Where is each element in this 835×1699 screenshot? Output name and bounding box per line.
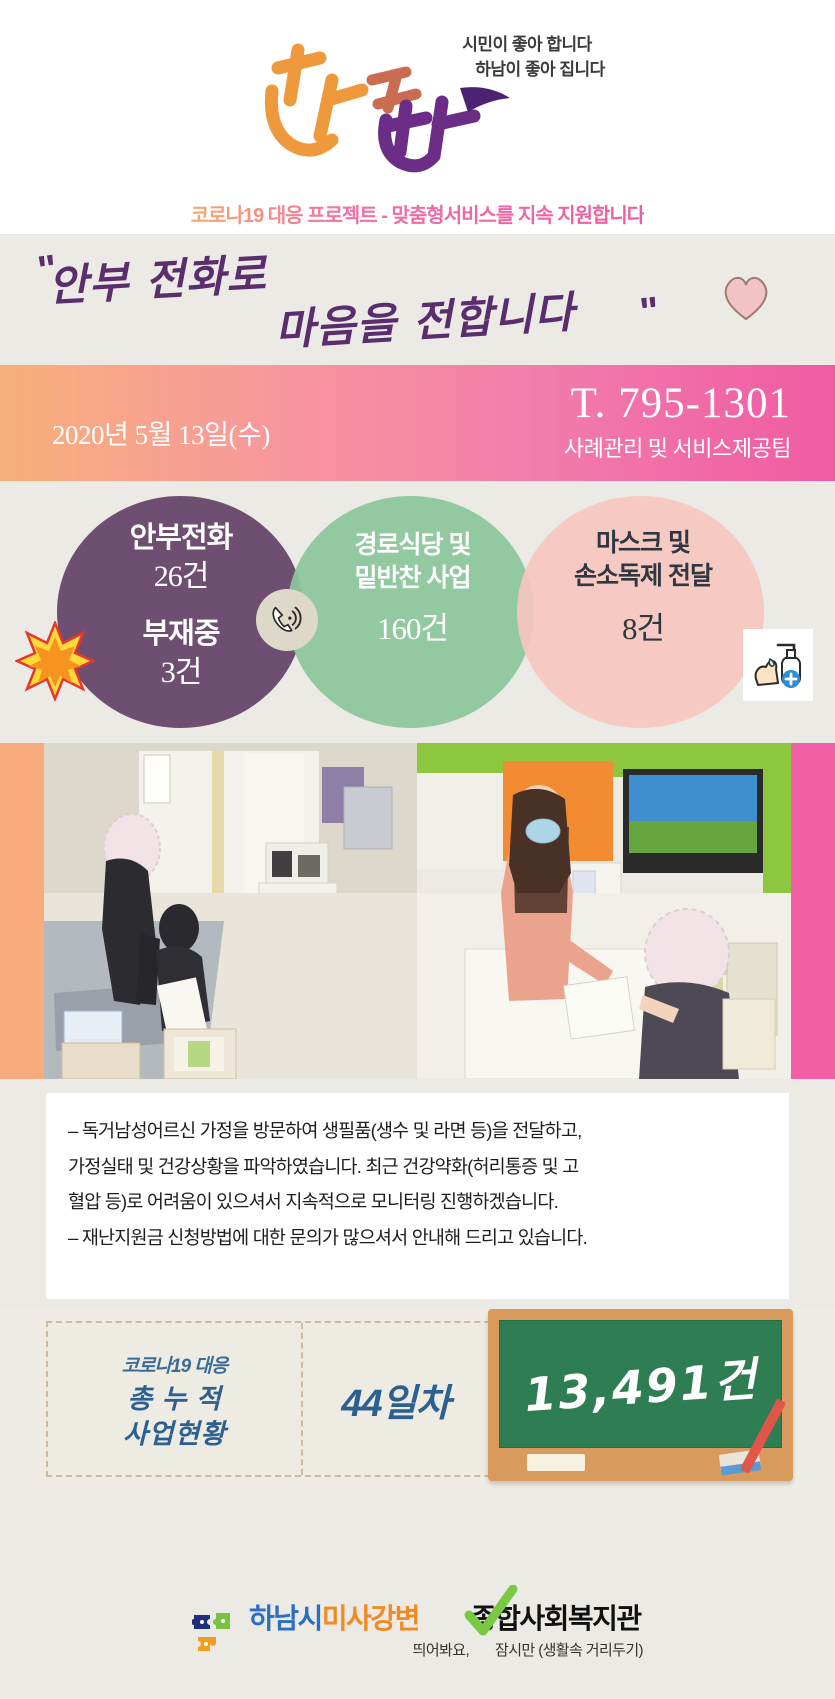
sanitizer-glyph: [748, 635, 808, 695]
photo-center-counsel: [417, 743, 791, 1079]
summary-days: 44일차: [341, 1372, 449, 1427]
poster-root: 시민이 좋아 합니다 하남이 좋아 집니다 코로나19 대응 프로젝트 - 맞춤…: [0, 0, 835, 1699]
summary-big-label-2: 사업현황: [123, 1417, 226, 1452]
contact-phone: T. 795-1301: [571, 379, 791, 428]
footer-inner: 하남시미사강변종합사회복지관 띄어봐요, 잠시만 (생활속 거리두기): [192, 1605, 643, 1661]
footer-sub-left: 띄어봐요,: [249, 1639, 477, 1660]
photo-edge-right: [791, 743, 835, 1079]
description-line-2: 가정실태 및 건강상황을 파악하였습니다. 최근 건강약화(허리통증 및 고: [68, 1149, 767, 1185]
phone-glyph: [268, 601, 306, 639]
team-name: 사례관리 및 서비스제공팀: [564, 431, 791, 463]
heart-icon: [719, 272, 773, 322]
project-bar: 코로나19 대응 프로젝트 - 맞춤형서비스를 지속 지원합니다: [0, 192, 835, 234]
venn-phone-sub-count: 3건: [62, 653, 300, 693]
info-bar: 2020년 5월 13일(수) T. 795-1301 사례관리 및 서비스제공…: [0, 365, 835, 481]
title-line-2: 마음을 전합니다: [273, 278, 576, 358]
footer-sub-right: 잠시만 (생활속 거리두기): [477, 1639, 643, 1660]
hand-sanitizer-icon: [743, 629, 813, 701]
photo-home-visit: [44, 743, 417, 1079]
organization-name: 하남시미사강변종합사회복지관: [249, 1605, 643, 1633]
summary-days-cell: 44일차: [303, 1323, 488, 1475]
summary-big-label-1: 총 누 적: [123, 1382, 226, 1417]
venn-meal-title-1: 경로식당 및: [300, 529, 525, 562]
chalk-tray: [499, 1448, 782, 1478]
photo-edge-left: [0, 743, 44, 1079]
venn-label-mask: 마스크 및 손소독제 전달 8건: [524, 527, 762, 650]
check-mark-icon: [463, 1585, 519, 1641]
venn-phone-count: 26건: [62, 557, 300, 597]
slogan-line-2: 하남이 좋아 집니다: [362, 58, 692, 83]
summary-total: 13,491건: [522, 1343, 760, 1425]
summary-small-label: 코로나19 대응: [122, 1351, 228, 1378]
venn-label-meal: 경로식당 및 밑반찬 사업 160건: [300, 529, 525, 650]
venn-mask-title-1: 마스크 및: [524, 527, 762, 560]
description-line-3: 혈압 등)로 어려움이 있으셔서 지속적으로 모니터링 진행하겠습니다.: [68, 1184, 767, 1220]
venn-meal-title-2: 밑반찬 사업: [300, 562, 525, 595]
star-burst-icon: [15, 621, 95, 701]
project-bar-text: 코로나19 대응 프로젝트 - 맞춤형서비스를 지속 지원합니다: [191, 199, 644, 228]
title-banner: " 안부 전화로 마음을 전합니다 ": [0, 234, 835, 365]
description-box: – 독거남성어르신 가정을 방문하여 생필품(생수 및 라면 등)을 전달하고,…: [46, 1093, 789, 1299]
org-name-city: 하남시: [249, 1603, 322, 1634]
chalkboard-surface: 13,491건: [499, 1320, 782, 1448]
slogan-line-1: 시민이 좋아 합니다: [362, 33, 692, 58]
venn-meal-count: 160건: [300, 609, 525, 650]
header: 시민이 좋아 합니다 하남이 좋아 집니다: [0, 0, 835, 192]
title-line-1: 안부 전화로: [46, 240, 268, 314]
summary-big-label: 총 누 적 사업현황: [123, 1382, 226, 1451]
quote-close-mark: ": [638, 289, 662, 336]
phone-ringing-icon: [256, 589, 318, 651]
org-name-district: 미사강변: [322, 1603, 419, 1634]
description-line-4: – 재난지원금 신청방법에 대한 문의가 많으셔서 안내해 드리고 있습니다.: [68, 1220, 767, 1256]
venn-diagram: 안부전화 26건 부재중 3건 경로식당 및 밑반찬 사업 160건 마스크 및…: [0, 481, 835, 743]
summary-section: 코로나19 대응 총 누 적 사업현황 44일차 13,491건: [46, 1321, 789, 1477]
photo-home-visit-graphic: [44, 743, 417, 1079]
puzzle-logo-icon: [192, 1611, 242, 1661]
description-section: – 독거남성어르신 가정을 방문하여 생필품(생수 및 라면 등)을 전달하고,…: [0, 1079, 835, 1309]
footer: 하남시미사강변종합사회복지관 띄어봐요, 잠시만 (생활속 거리두기): [0, 1561, 835, 1699]
chalk-stick-icon: [527, 1454, 585, 1471]
venn-mask-title-2: 손소독제 전달: [524, 560, 762, 593]
venn-phone-title: 안부전화: [62, 519, 300, 557]
summary-label-cell: 코로나19 대응 총 누 적 사업현황: [48, 1323, 303, 1475]
footer-subtexts: 띄어봐요, 잠시만 (생활속 거리두기): [249, 1639, 643, 1660]
organization-block: 하남시미사강변종합사회복지관 띄어봐요, 잠시만 (생활속 거리두기): [249, 1605, 643, 1660]
chalkboard: 13,491건: [488, 1309, 793, 1481]
city-slogan: 시민이 좋아 합니다 하남이 좋아 집니다: [362, 33, 692, 82]
report-date: 2020년 5월 13일(수): [52, 413, 270, 452]
photo-center-counsel-graphic: [417, 743, 791, 1079]
description-line-1: – 독거남성어르신 가정을 방문하여 생필품(생수 및 라면 등)을 전달하고,: [68, 1113, 767, 1149]
venn-mask-count: 8건: [524, 609, 762, 650]
photo-strip: [0, 743, 835, 1079]
